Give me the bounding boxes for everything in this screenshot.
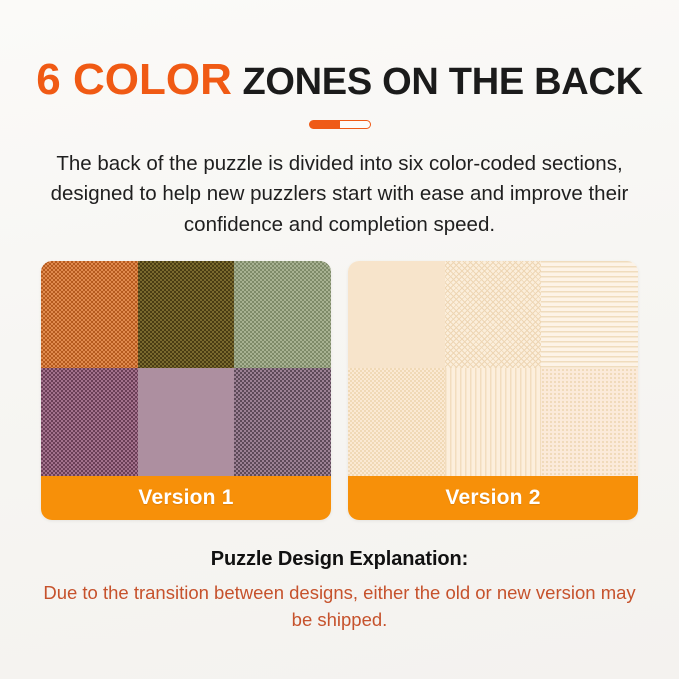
zone-cream-vlines [445,368,542,476]
zone-grid-version-1 [41,261,331,476]
zone-cream-checker [348,368,445,476]
zone-olive [138,261,235,369]
card-banner-version-2: Version 2 [348,476,638,520]
pill-divider [309,120,371,129]
footer: Puzzle Design Explanation: Due to the tr… [40,548,640,634]
card-version-2: Version 2 [348,261,638,520]
zone-cream-dots [541,368,638,476]
intro-paragraph: The back of the puzzle is divided into s… [40,149,640,240]
headline-rest: ZONES ON THE BACK [242,61,642,103]
card-banner-version-1: Version 1 [41,476,331,520]
card-version-1: Version 1 [41,261,331,520]
footer-title: Puzzle Design Explanation: [40,548,640,571]
zone-cream-hlines [541,261,638,369]
zone-orange [41,261,138,369]
zone-plum [41,368,138,476]
zone-grey-violet [234,368,331,476]
zone-cream-crosshatch [445,261,542,369]
zone-cream-plain [348,261,445,369]
pill-divider-filled [309,120,340,129]
headline-accent: 6 COLOR [36,55,232,104]
zone-mauve-solid [138,368,235,476]
page-title: 6 COLOR ZONES ON THE BACK [36,58,642,102]
infographic-page: 6 COLOR ZONES ON THE BACK The back of th… [0,0,679,679]
version-cards: Version 1 Version 2 [41,261,638,520]
footer-note: Due to the transition between designs, e… [40,580,640,634]
zone-grid-version-2 [348,261,638,476]
zone-sage-green [234,261,331,369]
pill-divider-empty [340,120,371,129]
